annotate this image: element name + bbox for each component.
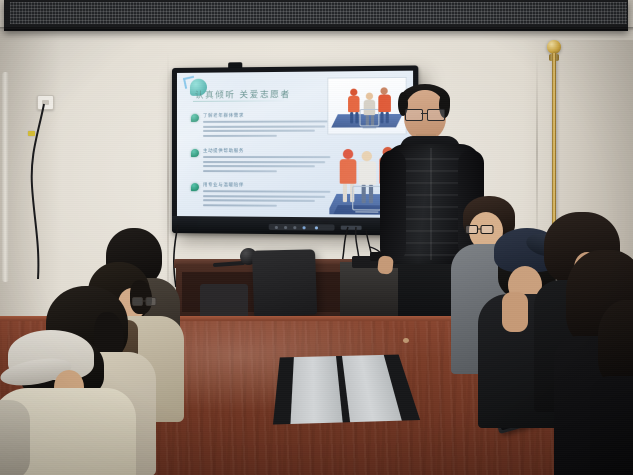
display-screen: 认真倾听 关爱志愿者 了解老年群体需求 主动提供帮助服务 用专业与温暖陪伴 [177,71,413,218]
bullet-dot-icon [191,183,199,191]
presenter-jacket-zipper [430,148,432,260]
folded-mat-on-table[interactable] [270,355,421,425]
slide-title-underline [193,100,290,102]
bullet-heading: 用专业与温暖陪伴 [203,182,244,188]
mat-panel-left [290,356,342,424]
attendee-right-edge [598,300,633,475]
wall-conduit-pipe [2,72,9,282]
attendee-left-front [0,330,140,475]
eyeglasses-icon [405,109,445,119]
wall-cable [20,104,56,279]
flag-pole-finial-icon [547,40,561,54]
office-chair[interactable] [252,249,317,317]
bullet-body-text [203,120,330,139]
bullet-dot-icon [191,149,199,157]
ceiling-mesh-texture [10,2,627,24]
display-camera-icon [228,62,242,68]
presenter-left-hand [377,255,394,274]
bullet-heading: 了解老年群体需求 [203,113,244,119]
presenter-left-arm [380,150,406,262]
bullet-heading: 主动提供帮助服务 [203,148,244,154]
bullet-dot-icon [191,114,199,122]
photo-scene: 认真倾听 关爱志愿者 了解老年群体需求 主动提供帮助服务 用专业与温暖陪伴 [0,0,633,475]
cable-clip-icon [28,131,35,136]
small-object-on-table [403,338,409,343]
bullet-body-text [203,156,330,175]
bullet-body-text [203,190,330,209]
slide-title: 认真倾听 关爱志愿者 [195,88,291,101]
ceiling-panel-shadow [0,27,633,31]
office-chair-secondary[interactable] [200,284,248,320]
